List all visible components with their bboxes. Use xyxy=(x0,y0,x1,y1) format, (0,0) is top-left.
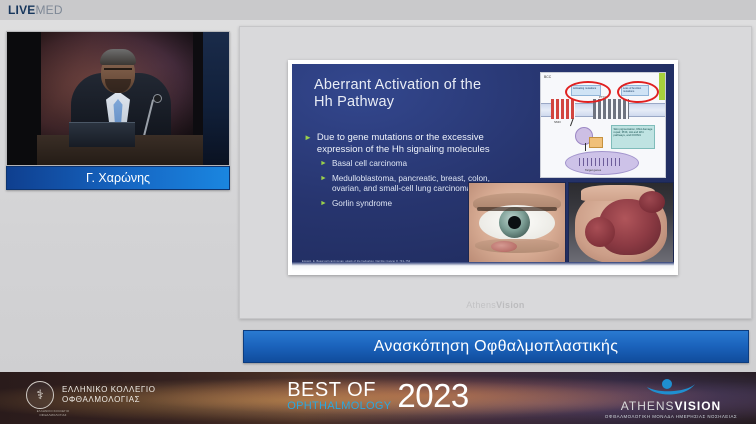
video-right-screen-band xyxy=(203,32,229,165)
logo-live-text: LIVE xyxy=(8,3,35,17)
ptch-receptor-icon xyxy=(593,99,629,119)
logo-med-text: MED xyxy=(35,3,62,17)
event-year-text: 2023 xyxy=(397,379,468,412)
bullet-sub-text: Basal cell carcinoma xyxy=(332,159,407,169)
lower-eyelid xyxy=(475,239,559,253)
speaker-name-banner: Γ. Χαρώνης xyxy=(6,166,230,190)
facial-tumor-secondary xyxy=(585,217,615,247)
slide-title: Aberrant Activation of the Hh Pathway xyxy=(314,77,494,111)
event-logo-left: BEST OF OPHTHALMOLOGY xyxy=(287,380,391,412)
eyelashes xyxy=(477,207,557,211)
athensvision-watermark: AthensVision xyxy=(240,300,751,310)
slide-frame: Aberrant Activation of the Hh Pathway ► … xyxy=(288,60,678,275)
nucleus-arrow-icon xyxy=(585,143,586,151)
triangle-bullet-icon: ► xyxy=(320,174,327,194)
facial-tumor-upper xyxy=(639,191,665,213)
video-left-band xyxy=(7,32,41,165)
speaker-glasses xyxy=(104,68,132,77)
triangle-bullet-icon: ► xyxy=(304,132,312,155)
diagram-pathways-box: Skin pigmentation, DNA damage repair, PI… xyxy=(611,125,655,149)
hh-pathway-diagram: BCC SMO PTCH Activating mutations Loss o… xyxy=(540,72,666,178)
slide-bottom-strip xyxy=(292,262,674,271)
slide-panel[interactable]: Aberrant Activation of the Hh Pathway ► … xyxy=(239,26,752,319)
athensvision-name-light: ATHENS xyxy=(621,399,675,413)
athensvision-logo[interactable]: ATHENSVISION ΟΦΘΑΛΜΟΛΟΓΙΚΗ ΜΟΝΑΔΑ ΗΜΕΡΗΣ… xyxy=(596,378,746,419)
dna-icon xyxy=(579,158,623,166)
event-best-of-text: BEST OF xyxy=(287,380,376,400)
pupil xyxy=(508,216,521,229)
diagram-label-smo: SMO xyxy=(554,120,561,124)
bullet-primary-text: Due to gene mutations or the excessive e… xyxy=(317,132,496,155)
smo-receptor-icon xyxy=(551,99,575,119)
red-annotation-ellipse-right xyxy=(617,81,659,103)
triangle-bullet-icon: ► xyxy=(320,159,327,169)
athensvision-name-bold: VISION xyxy=(675,399,722,413)
eyelid-basal-cell-carcinoma-photo xyxy=(468,182,566,266)
session-title-label: Ανασκόπηση Οφθαλμοπλαστικής xyxy=(374,338,619,356)
diagram-label-target-genes: Target genes xyxy=(585,168,601,172)
athensvision-swoosh-icon xyxy=(645,378,697,398)
livemed-logo[interactable]: LIVEMED xyxy=(8,3,63,17)
athensvision-tagline: ΟΦΘΑΛΜΟΛΟΓΙΚΗ ΜΟΝΑΔΑ ΗΜΕΡΗΣΙΑΣ ΝΟΣΗΛΕΙΑΣ xyxy=(596,414,746,419)
effector-node-icon xyxy=(589,137,603,148)
speaker-video[interactable] xyxy=(6,31,230,166)
watermark-bold-text: Vision xyxy=(496,300,525,310)
session-title-banner: Ανασκόπηση Οφθαλμοπλαστικής xyxy=(243,330,749,363)
bullet-primary: ► Due to gene mutations or the excessive… xyxy=(304,132,496,155)
bullet-sub-text: Gorlin syndrome xyxy=(332,199,392,209)
red-annotation-ellipse-left xyxy=(565,81,611,103)
speaker-hair xyxy=(100,49,136,65)
event-ophthalmology-text: OPHTHALMOLOGY xyxy=(287,400,391,412)
watermark-light-text: Athens xyxy=(466,300,496,310)
footer-bar: ⚕ ΕΛΛΗΝΙΚΟ ΚΟΛΛΕΓΙΟ ΟΦΘΑΛΜΟΛΟΓΙΑΣ ΕΛΛΗΝΙ… xyxy=(0,372,756,424)
microphone-icon xyxy=(153,94,162,103)
speaker-name-label: Γ. Χαρώνης xyxy=(86,171,150,185)
laptop xyxy=(69,122,135,147)
top-bar: LIVEMED xyxy=(0,0,756,20)
facial-advanced-carcinoma-photo xyxy=(568,182,674,266)
diagram-label-bcc: BCC xyxy=(544,75,551,79)
athensvision-eye-icon xyxy=(596,378,746,398)
presentation-slide: Aberrant Activation of the Hh Pathway ► … xyxy=(292,64,674,271)
athensvision-name: ATHENSVISION xyxy=(596,399,746,413)
livestream-player: LIVEMED Γ. Χαρώνης Aberrant Activation o… xyxy=(0,0,756,424)
triangle-bullet-icon: ► xyxy=(320,199,327,209)
green-highlight-marker xyxy=(659,72,666,100)
bullet-sub: ► Basal cell carcinoma xyxy=(320,159,496,169)
eyelid-lesion xyxy=(491,241,517,252)
